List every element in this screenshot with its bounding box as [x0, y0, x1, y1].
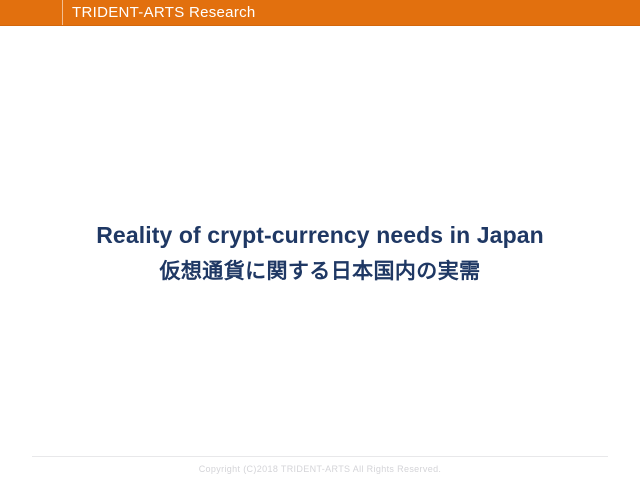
header-vertical-rule-icon	[62, 0, 63, 25]
header-brand-label: TRIDENT-ARTS Research	[72, 0, 256, 25]
slide-content: Reality of crypt-currency needs in Japan…	[0, 26, 640, 450]
presentation-slide: TRIDENT-ARTS Research Reality of crypt-c…	[0, 0, 640, 480]
title-block: Reality of crypt-currency needs in Japan…	[0, 220, 640, 286]
header-bar: TRIDENT-ARTS Research	[0, 0, 640, 26]
footer-copyright: Copyright (C)2018 TRIDENT-ARTS All Right…	[0, 463, 640, 476]
footer-divider	[32, 456, 608, 457]
slide-subtitle: 仮想通貨に関する日本国内の実需	[0, 258, 640, 286]
slide-title: Reality of crypt-currency needs in Japan	[0, 220, 640, 250]
